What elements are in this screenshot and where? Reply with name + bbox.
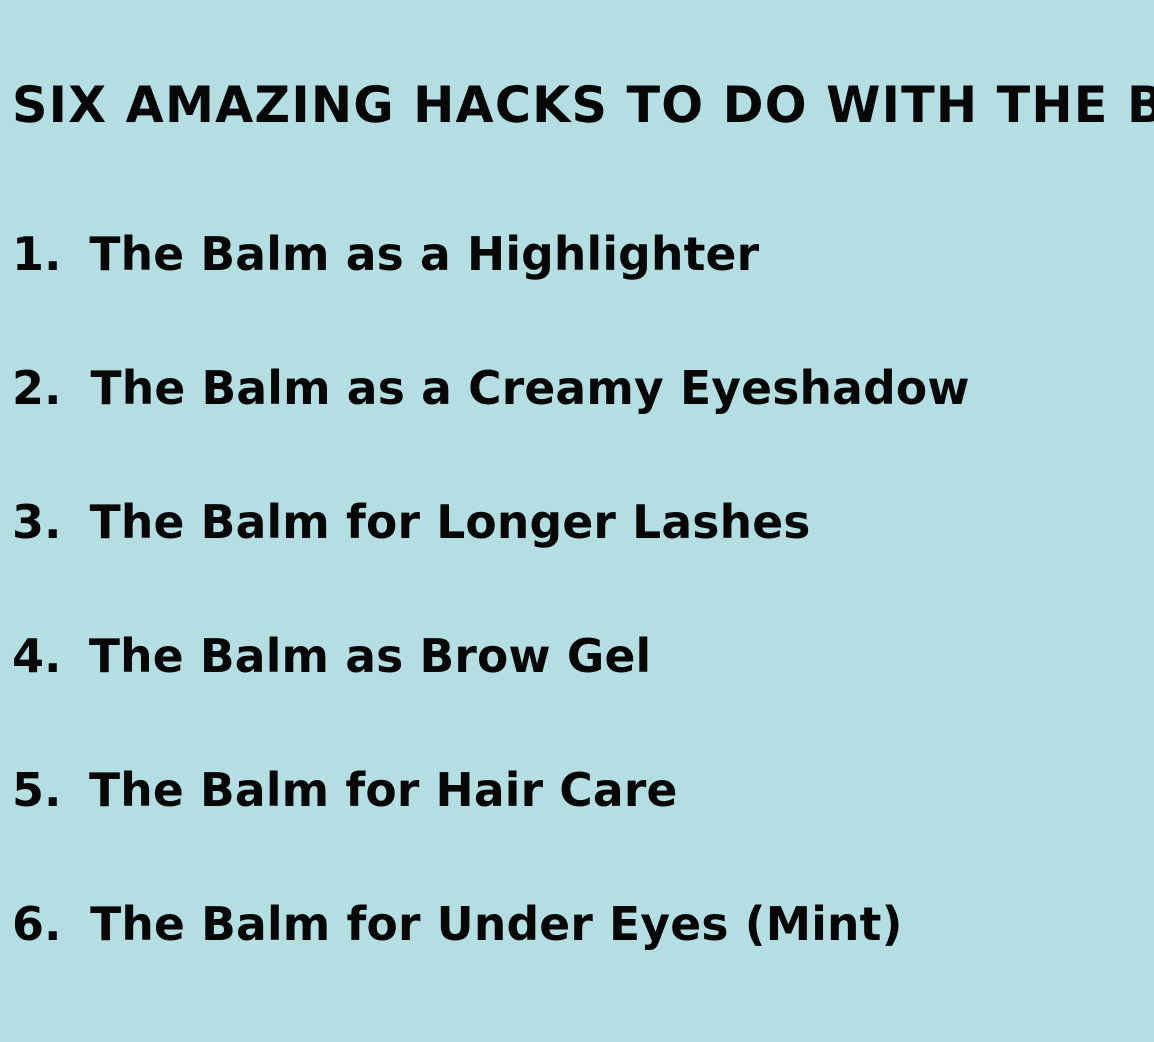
- list-item-number: 2.: [12, 362, 86, 414]
- list-item-label: The Balm for Hair Care: [89, 764, 678, 816]
- list-item-label: The Balm for Under Eyes (Mint): [90, 898, 903, 950]
- list-item-number: 1.: [12, 228, 86, 280]
- list-item: 4. The Balm as Brow Gel: [0, 630, 1154, 764]
- list-item-number: 4.: [12, 630, 86, 682]
- list-item-label: The Balm as Brow Gel: [89, 630, 652, 682]
- page-title: SIX AMAZING HACKS TO DO WITH THE BALM:: [12, 76, 1125, 134]
- list-item: 3. The Balm for Longer Lashes: [0, 496, 1154, 630]
- slide-canvas: SIX AMAZING HACKS TO DO WITH THE BALM: 1…: [0, 0, 1154, 1042]
- list-item-label: The Balm as a Creamy Eyeshadow: [90, 362, 969, 414]
- list-item-number: 5.: [12, 764, 86, 816]
- hacks-list: 1. The Balm as a Highlighter 2. The Balm…: [0, 228, 1154, 1032]
- list-item-label: The Balm for Longer Lashes: [90, 496, 811, 548]
- list-item: 6. The Balm for Under Eyes (Mint): [0, 898, 1154, 1032]
- list-item: 5. The Balm for Hair Care: [0, 764, 1154, 898]
- list-item-number: 6.: [12, 898, 86, 950]
- list-item: 2. The Balm as a Creamy Eyeshadow: [0, 362, 1154, 496]
- list-item-label: The Balm as a Highlighter: [89, 228, 759, 280]
- list-item: 1. The Balm as a Highlighter: [0, 228, 1154, 362]
- list-item-number: 3.: [12, 496, 86, 548]
